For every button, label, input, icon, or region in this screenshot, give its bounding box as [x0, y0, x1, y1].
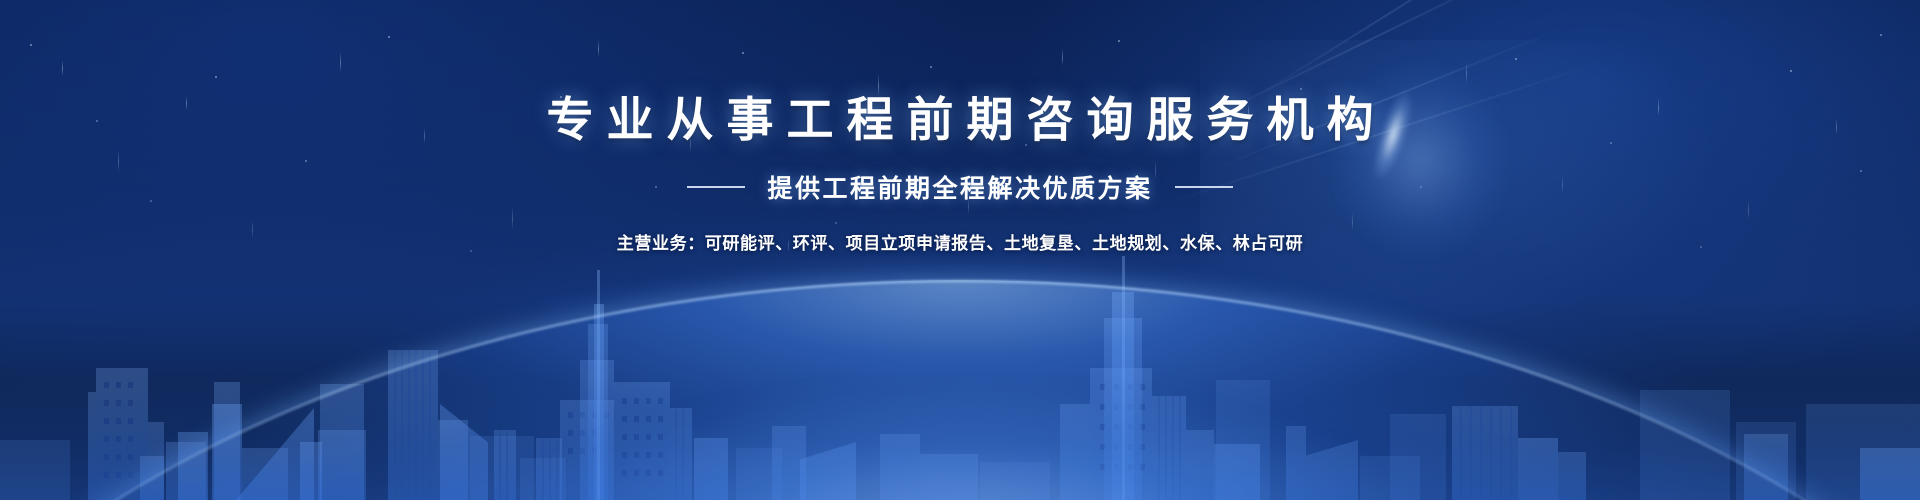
subtitle-row: 提供工程前期全程解决优质方案 — [0, 169, 1920, 205]
ground-haze — [0, 380, 1920, 500]
hero-banner: 专业从事工程前期咨询服务机构 提供工程前期全程解决优质方案 主营业务：可研能评、… — [0, 0, 1920, 500]
hero-content: 专业从事工程前期咨询服务机构 提供工程前期全程解决优质方案 主营业务：可研能评、… — [0, 92, 1920, 254]
page-title: 专业从事工程前期咨询服务机构 — [0, 92, 1920, 147]
business-scope-text: 主营业务：可研能评、环评、项目立项申请报告、土地复垦、土地规划、水保、林占可研 — [0, 229, 1920, 254]
dash-right-icon — [1175, 186, 1233, 188]
page-subtitle: 提供工程前期全程解决优质方案 — [767, 169, 1152, 205]
dash-left-icon — [687, 186, 745, 188]
